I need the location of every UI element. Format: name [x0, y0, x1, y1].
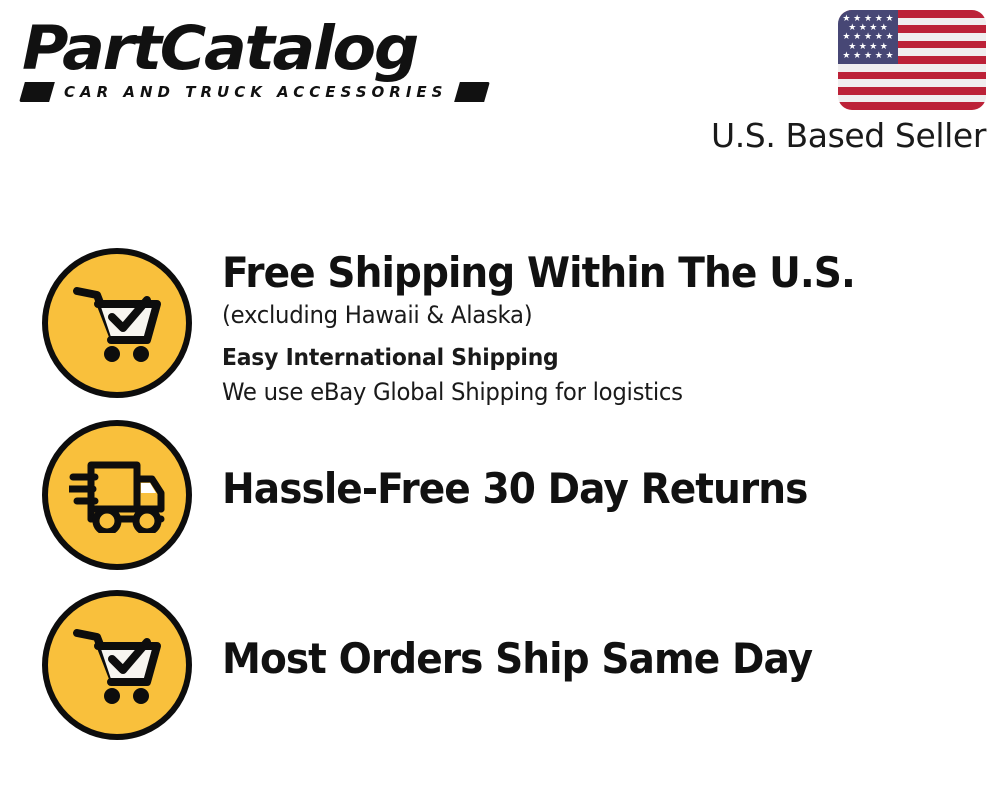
flag-star-row: ★ ★ ★ ★ ★ [841, 51, 895, 60]
delivery-truck-icon [42, 420, 192, 570]
tagline-right-slash-icon [455, 82, 491, 102]
tagline-left-slash-icon [19, 82, 55, 102]
star-icon: ★ [886, 51, 894, 60]
star-icon: ★ [853, 51, 861, 60]
flag-stripe [838, 87, 986, 95]
feature-text-block: Free Shipping Within The U.S. (excluding… [222, 248, 982, 409]
flag-stripe [838, 102, 986, 110]
shopping-cart-check-icon [42, 590, 192, 740]
brand-logo[interactable]: PartCatalog CAR AND TRUCK ACCESSORIES [22, 14, 492, 114]
brand-wordmark: PartCatalog [22, 14, 511, 84]
page-header: PartCatalog CAR AND TRUCK ACCESSORIES ★ [0, 0, 1000, 170]
flag-stripe [838, 79, 986, 87]
feature-row: Hassle-Free 30 Day Returns [0, 420, 1000, 592]
feature-subtitle: (excluding Hawaii & Alaska) [222, 298, 944, 332]
flag-stripe [838, 95, 986, 103]
feature-title: Free Shipping Within The U.S. [222, 248, 929, 298]
brand-tagline-row: CAR AND TRUCK ACCESSORIES [22, 80, 492, 104]
flag-stripe [838, 72, 986, 80]
feature-subtitle-bold: Easy International Shipping [222, 341, 944, 375]
us-flag-icon: ★ ★ ★ ★ ★ ★ ★ ★ ★ ★ ★ ★ ★ ★ ★ ★ [838, 10, 986, 110]
feature-text-block: Hassle-Free 30 Day Returns [222, 420, 982, 514]
feature-text-block: Most Orders Ship Same Day [222, 590, 982, 684]
brand-tagline: CAR AND TRUCK ACCESSORIES [64, 83, 447, 101]
star-icon: ★ [842, 51, 850, 60]
star-icon: ★ [864, 51, 872, 60]
feature-title: Hassle-Free 30 Day Returns [222, 464, 929, 514]
star-icon: ★ [875, 51, 883, 60]
flag-stripe [838, 64, 986, 72]
shopping-cart-check-icon [42, 248, 192, 398]
feature-subtitle: We use eBay Global Shipping for logistic… [222, 375, 944, 409]
feature-row: Free Shipping Within The U.S. (excluding… [0, 248, 1000, 420]
feature-row: Most Orders Ship Same Day [0, 590, 1000, 762]
us-based-seller-label: U.S. Based Seller [711, 116, 986, 156]
feature-title: Most Orders Ship Same Day [222, 634, 929, 684]
flag-canton: ★ ★ ★ ★ ★ ★ ★ ★ ★ ★ ★ ★ ★ ★ ★ ★ [838, 10, 898, 64]
